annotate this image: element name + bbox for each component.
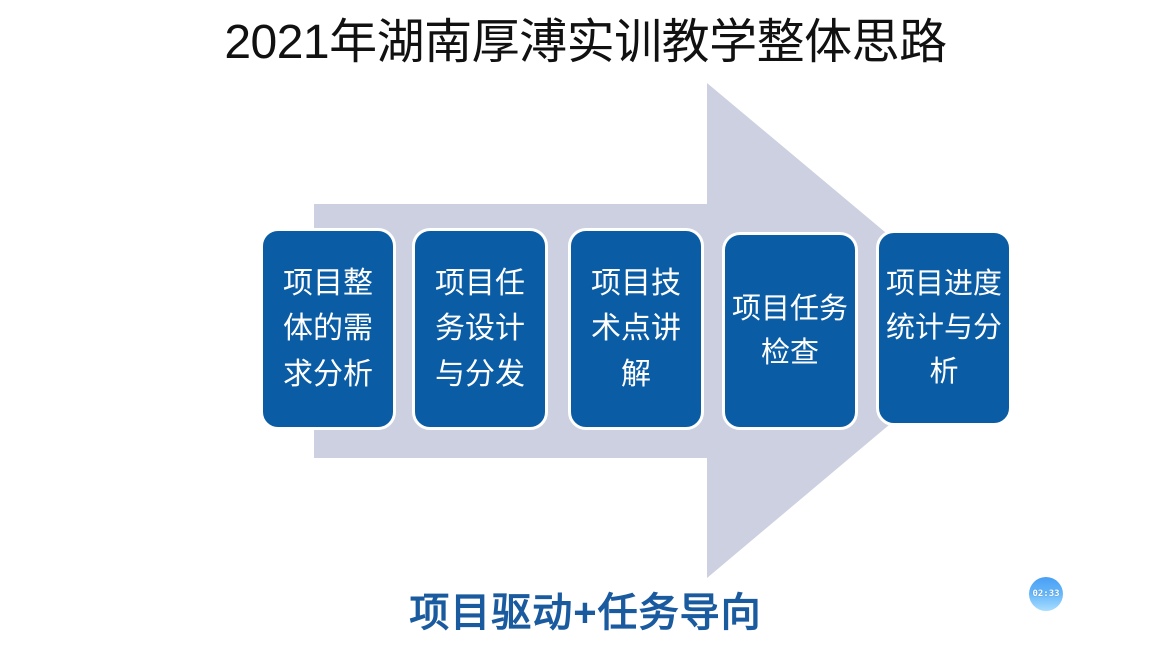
process-step-3[interactable]: 项目技术点讲解 bbox=[568, 228, 704, 430]
timer-badge-label: 02:33 bbox=[1032, 589, 1059, 599]
process-step-4[interactable]: 项目任务检查 bbox=[722, 232, 858, 430]
timer-badge-icon: 02:33 bbox=[1029, 577, 1063, 611]
process-step-2-label: 项目任务设计与分发 bbox=[415, 261, 545, 398]
page-title: 2021年湖南厚溥实训教学整体思路 bbox=[0, 18, 1171, 68]
process-step-1-label: 项目整体的需求分析 bbox=[263, 261, 393, 398]
slide-canvas: 2021年湖南厚溥实训教学整体思路 项目整体的需求分析 项目任务设计与分发 项目… bbox=[0, 0, 1171, 658]
process-step-4-label: 项目任务检查 bbox=[725, 287, 855, 375]
process-step-5-label: 项目进度统计与分析 bbox=[879, 262, 1009, 394]
process-step-3-label: 项目技术点讲解 bbox=[571, 261, 701, 398]
process-step-5[interactable]: 项目进度统计与分析 bbox=[876, 230, 1012, 426]
tagline-text: 项目驱动+任务导向 bbox=[0, 580, 1171, 638]
process-step-2[interactable]: 项目任务设计与分发 bbox=[412, 228, 548, 430]
process-step-1[interactable]: 项目整体的需求分析 bbox=[260, 228, 396, 430]
